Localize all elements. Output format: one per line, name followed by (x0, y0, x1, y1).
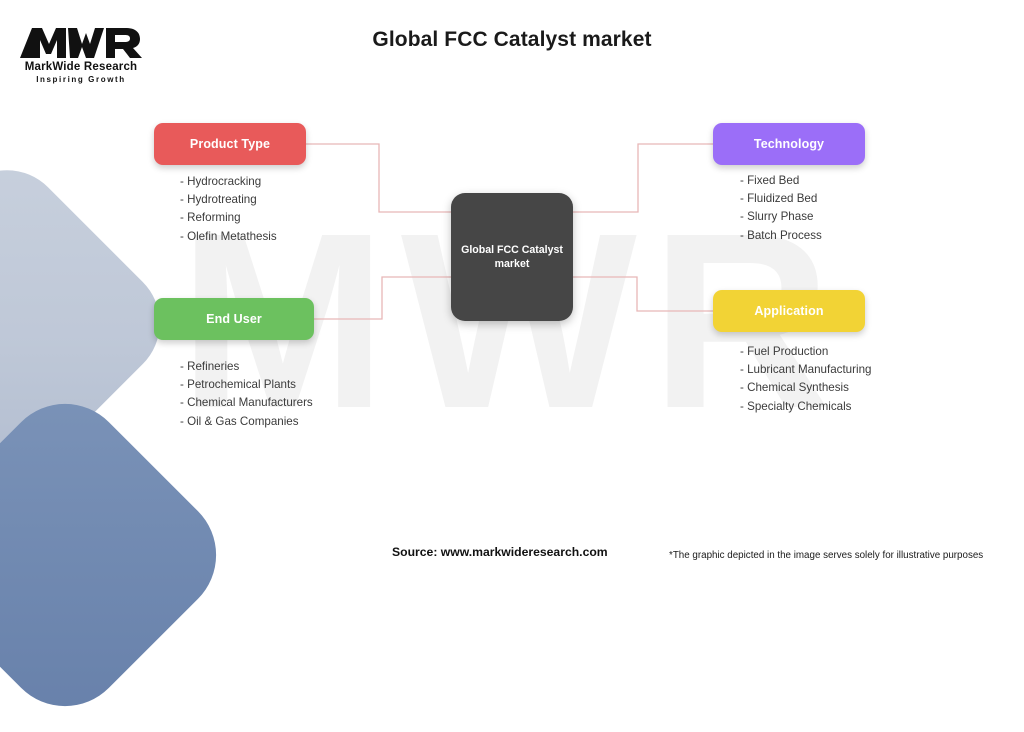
list-item: - Specialty Chemicals (740, 398, 871, 416)
center-node-label: Global FCC Catalyst market (451, 243, 573, 271)
branch-items-end-user: - Refineries - Petrochemical Plants - Ch… (180, 358, 313, 431)
branch-label-application: Application (754, 304, 823, 318)
list-item: - Hydrocracking (180, 173, 277, 191)
list-item: - Oil & Gas Companies (180, 413, 313, 431)
footer-disclaimer: *The graphic depicted in the image serve… (669, 550, 983, 561)
logo-tagline: Inspiring Growth (16, 75, 146, 84)
branch-box-product-type[interactable]: Product Type (154, 123, 306, 165)
branch-label-product-type: Product Type (190, 137, 270, 151)
branch-items-product-type: - Hydrocracking - Hydrotreating - Reform… (180, 173, 277, 246)
list-item: - Fluidized Bed (740, 190, 822, 208)
branch-box-end-user[interactable]: End User (154, 298, 314, 340)
list-item: - Batch Process (740, 227, 822, 245)
branch-box-technology[interactable]: Technology (713, 123, 865, 165)
diagram-canvas: Global FCC Catalyst market Product Type … (0, 0, 1024, 576)
list-item: - Petrochemical Plants (180, 376, 313, 394)
branch-label-end-user: End User (206, 312, 262, 326)
list-item: - Reforming (180, 209, 277, 227)
list-item: - Chemical Synthesis (740, 379, 871, 397)
list-item: - Chemical Manufacturers (180, 394, 313, 412)
branch-items-application: - Fuel Production - Lubricant Manufactur… (740, 343, 871, 416)
list-item: - Fuel Production (740, 343, 871, 361)
footer-source: Source: www.markwideresearch.com (392, 545, 608, 559)
list-item: - Hydrotreating (180, 191, 277, 209)
branch-label-technology: Technology (754, 137, 824, 151)
page-title: Global FCC Catalyst market (0, 28, 1024, 52)
logo-company-name: MarkWide Research (16, 61, 146, 73)
center-node[interactable]: Global FCC Catalyst market (451, 193, 573, 321)
list-item: - Lubricant Manufacturing (740, 361, 871, 379)
list-item: - Fixed Bed (740, 172, 822, 190)
list-item: - Slurry Phase (740, 208, 822, 226)
list-item: - Olefin Metathesis (180, 228, 277, 246)
branch-box-application[interactable]: Application (713, 290, 865, 332)
branch-items-technology: - Fixed Bed - Fluidized Bed - Slurry Pha… (740, 172, 822, 245)
list-item: - Refineries (180, 358, 313, 376)
